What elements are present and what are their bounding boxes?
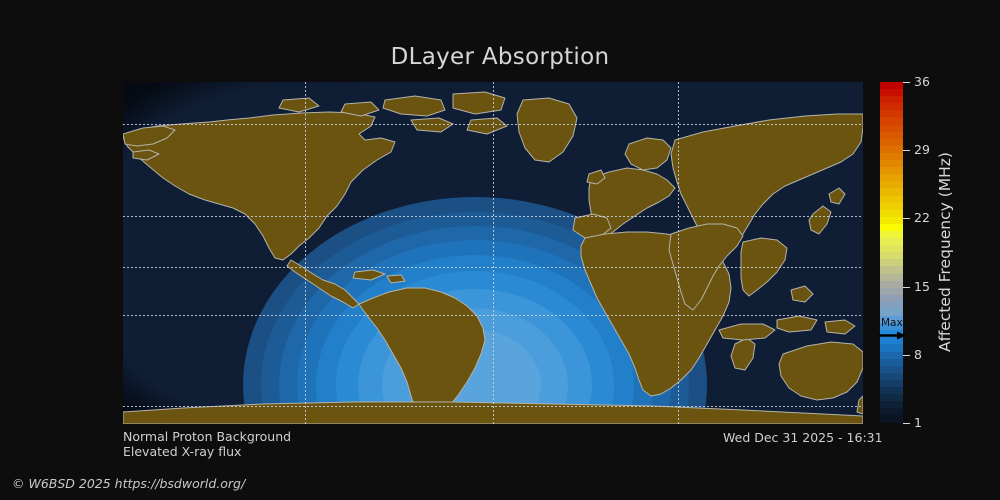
colorbar-segment: [880, 110, 903, 117]
tick-label: 22: [914, 212, 930, 225]
colorbar-segment: [880, 103, 903, 110]
colorbar-segment: [880, 117, 903, 124]
colorbar-segment: [880, 167, 903, 174]
proton-status: Normal Proton Background: [123, 429, 291, 444]
tick-mark: [903, 218, 910, 219]
credit-text: © W6BSD 2025 https://bsdworld.org/: [12, 476, 245, 491]
colorbar-segment: [880, 408, 903, 415]
colorbar-max-label: Max: [879, 318, 919, 328]
tick-label: 1: [914, 417, 922, 430]
colorbar-segment: [880, 302, 903, 309]
colorbar-segment: [880, 415, 903, 422]
timestamp: Wed Dec 31 2025 - 16:31: [723, 430, 883, 445]
colorbar-segment: [880, 210, 903, 217]
colorbar-segment: [880, 203, 903, 210]
colorbar-segment: [880, 146, 903, 153]
colorbar-segment: [880, 245, 903, 252]
colorbar-tick: 1: [903, 417, 922, 430]
colorbar-segment: [880, 309, 903, 316]
tick-mark: [903, 82, 910, 83]
xray-status: Elevated X-ray flux: [123, 444, 291, 459]
tick-label: 15: [914, 281, 930, 294]
colorbar-segment: [880, 231, 903, 238]
colorbar-segment: [880, 217, 903, 224]
colorbar-segment: [880, 295, 903, 302]
colorbar-segment: [880, 238, 903, 245]
tick-mark: [903, 150, 910, 151]
colorbar-tick: 29: [903, 144, 930, 157]
page-title: DLayer Absorption: [0, 44, 1000, 70]
colorbar-tick: 15: [903, 281, 930, 294]
colorbar-segment: [880, 259, 903, 266]
colorbar-tick: 36: [903, 76, 930, 89]
colorbar-segment: [880, 181, 903, 188]
colorbar-segment: [880, 160, 903, 167]
tick-label: 29: [914, 144, 930, 157]
screenshot-root: DLayer Absorption: [0, 0, 1000, 500]
colorbar-segment: [880, 266, 903, 273]
colorbar-axis-label: Affected Frequency (MHz): [934, 82, 956, 423]
status-notes: Normal Proton Background Elevated X-ray …: [123, 429, 291, 459]
continents-layer: [123, 82, 863, 424]
colorbar-segment: [880, 344, 903, 351]
colorbar-segment: [880, 196, 903, 203]
colorbar-segment: [880, 288, 903, 295]
colorbar-gradient[interactable]: [880, 82, 903, 423]
colorbar-segment: [880, 401, 903, 408]
colorbar-segment: [880, 352, 903, 359]
colorbar-segment: [880, 82, 903, 89]
colorbar-segment: [880, 139, 903, 146]
tick-label: 36: [914, 76, 930, 89]
colorbar-segment: [880, 89, 903, 96]
colorbar-segment: [880, 96, 903, 103]
colorbar-segment: [880, 224, 903, 231]
tick-mark: [903, 287, 910, 288]
colorbar-segment: [880, 359, 903, 366]
world-map[interactable]: [123, 82, 863, 424]
colorbar-max-marker: Max: [879, 318, 919, 344]
tick-mark: [903, 423, 910, 424]
colorbar-segment: [880, 373, 903, 380]
colorbar-segment: [880, 281, 903, 288]
tick-label: 8: [914, 349, 922, 362]
colorbar-tick: 22: [903, 212, 930, 225]
colorbar-segment: [880, 174, 903, 181]
colorbar-segment: [880, 132, 903, 139]
colorbar-segment: [880, 125, 903, 132]
colorbar-segment: [880, 252, 903, 259]
colorbar-tick: 8: [903, 349, 922, 362]
colorbar-segment: [880, 387, 903, 394]
colorbar-segment: [880, 274, 903, 281]
colorbar-segment: [880, 153, 903, 160]
tick-mark: [903, 355, 910, 356]
colorbar-segment: [880, 380, 903, 387]
colorbar-segment: [880, 366, 903, 373]
colorbar-segment: [880, 394, 903, 401]
colorbar-segment: [880, 188, 903, 195]
max-arrow-icon: [879, 331, 906, 340]
